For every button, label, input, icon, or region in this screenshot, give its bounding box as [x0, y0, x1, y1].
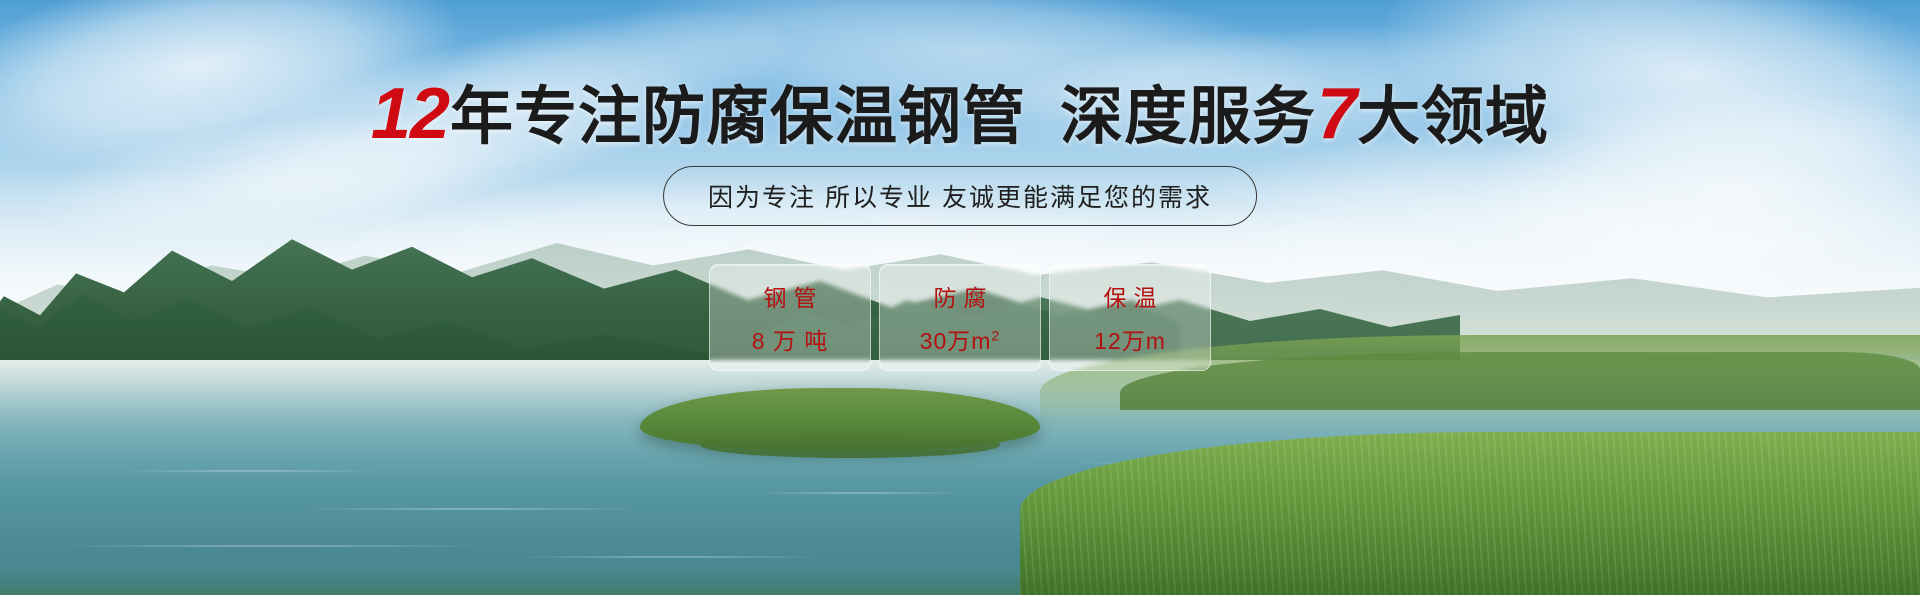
stat-card-label: 保温 — [1097, 279, 1164, 313]
water-ripple — [60, 545, 480, 547]
banner-subtitle-pill: 因为专注 所以专业 友诚更能满足您的需求 — [663, 166, 1257, 226]
water-ripple — [760, 492, 960, 494]
stat-card-insulation[interactable]: 保温 12万m — [1049, 264, 1211, 371]
promo-banner: 12年专注防腐保温钢管深度服务7大领域 因为专注 所以专业 友诚更能满足您的需求… — [0, 0, 1920, 595]
stat-card-value-text: 30万m — [920, 328, 992, 354]
stat-card-label: 防腐 — [927, 279, 994, 313]
stat-card-group: 钢管 8 万 吨 防腐 30万m2 保温 12万m — [709, 264, 1211, 371]
stat-card-value-text: 12万m — [1094, 328, 1166, 354]
stat-card-value: 30万m2 — [920, 322, 1001, 356]
banner-headline: 12年专注防腐保温钢管深度服务7大领域 — [0, 78, 1920, 150]
headline-fields-number: 7 — [1317, 74, 1356, 154]
headline-years-number: 12 — [371, 74, 449, 154]
stat-card-anticorrosion[interactable]: 防腐 30万m2 — [879, 264, 1041, 371]
headline-part-one: 年专注防腐保温钢管 — [450, 82, 1026, 152]
stat-card-value: 8 万 吨 — [752, 322, 829, 356]
headline-part-three: 大领域 — [1357, 82, 1549, 152]
stat-card-steel-pipe[interactable]: 钢管 8 万 吨 — [709, 264, 871, 371]
grass-bottom-shade — [0, 569, 1920, 595]
water-ripple — [120, 470, 380, 472]
stat-card-value-superscript: 2 — [991, 327, 1000, 343]
stat-card-label: 钢管 — [757, 279, 824, 313]
stat-card-value: 12万m — [1094, 322, 1166, 356]
headline-part-two: 深度服务 — [1060, 82, 1316, 152]
grass-island-shadow — [700, 432, 1000, 458]
water-ripple — [300, 508, 640, 510]
water-ripple — [520, 556, 820, 558]
stat-card-value-text: 8 万 吨 — [752, 328, 829, 354]
